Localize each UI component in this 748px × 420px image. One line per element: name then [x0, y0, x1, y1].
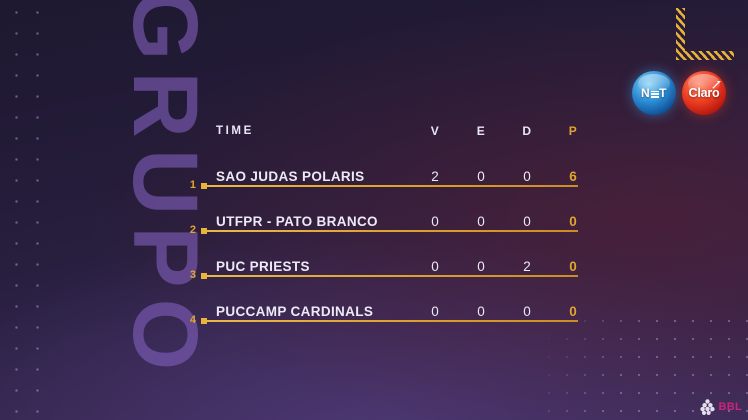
- table-row: 4 PUCCAMP CARDINALS 0 0 0 0: [186, 292, 578, 324]
- standings-screen: GRUPO B NT Claro TIME V E D P 1 SAO JUDA…: [0, 0, 748, 420]
- row-losses: 0: [504, 215, 550, 229]
- row-wins: 0: [412, 260, 458, 274]
- net-logo-label: NT: [641, 87, 667, 99]
- bbl-logo-icon: [700, 399, 715, 416]
- row-losses: 2: [504, 260, 550, 274]
- row-draws: 0: [458, 260, 504, 274]
- row-draws: 0: [458, 215, 504, 229]
- claro-accent-icon: [712, 81, 721, 90]
- table-row: 1 SAO JUDAS POLARIS 2 0 0 6: [186, 157, 578, 189]
- bbl-watermark-label: BBL: [718, 402, 742, 413]
- column-header-draws: E: [458, 124, 504, 138]
- row-underline: [207, 275, 578, 277]
- row-losses: 0: [504, 170, 550, 184]
- row-team-name: SAO JUDAS POLARIS: [216, 170, 412, 184]
- corner-bracket-icon: [676, 8, 734, 60]
- row-rank: 3: [186, 270, 196, 281]
- row-rank: 2: [186, 225, 196, 236]
- row-points: 0: [550, 215, 596, 229]
- table-row: 2 UTFPR - PATO BRANCO 0 0 0 0: [186, 202, 578, 234]
- row-wins: 0: [412, 215, 458, 229]
- row-points: 0: [550, 305, 596, 319]
- net-logo-icon: NT: [632, 71, 676, 115]
- row-underline: [207, 320, 578, 322]
- row-rank: 1: [186, 180, 196, 191]
- row-wins: 2: [412, 170, 458, 184]
- net-e-bars-icon: [651, 90, 659, 98]
- row-points: 6: [550, 170, 596, 184]
- row-points: 0: [550, 260, 596, 274]
- bracket-vertical-arm: [676, 8, 685, 60]
- bracket-horizontal-arm: [676, 51, 734, 60]
- table-header-row: TIME V E D P: [186, 118, 578, 144]
- row-team-name: PUCCAMP CARDINALS: [216, 305, 412, 319]
- row-underline: [207, 230, 578, 232]
- row-losses: 0: [504, 305, 550, 319]
- row-draws: 0: [458, 170, 504, 184]
- table-row: 3 PUC PRIESTS 0 0 2 0: [186, 247, 578, 279]
- bbl-watermark: BBL: [700, 399, 742, 416]
- column-header-points: P: [550, 124, 596, 138]
- column-header-losses: D: [504, 124, 550, 138]
- row-underline: [207, 185, 578, 187]
- row-wins: 0: [412, 305, 458, 319]
- dot-grid-icon-left: [0, 0, 52, 420]
- row-team-name: PUC PRIESTS: [216, 260, 412, 274]
- sponsor-logos: NT Claro: [632, 71, 726, 115]
- standings-table: TIME V E D P 1 SAO JUDAS POLARIS 2 0 0 6…: [186, 118, 578, 324]
- row-rank: 4: [186, 315, 196, 326]
- claro-logo-icon: Claro: [682, 71, 726, 115]
- column-header-wins: V: [412, 124, 458, 138]
- column-header-team: TIME: [216, 125, 412, 137]
- row-team-name: UTFPR - PATO BRANCO: [216, 215, 412, 229]
- row-draws: 0: [458, 305, 504, 319]
